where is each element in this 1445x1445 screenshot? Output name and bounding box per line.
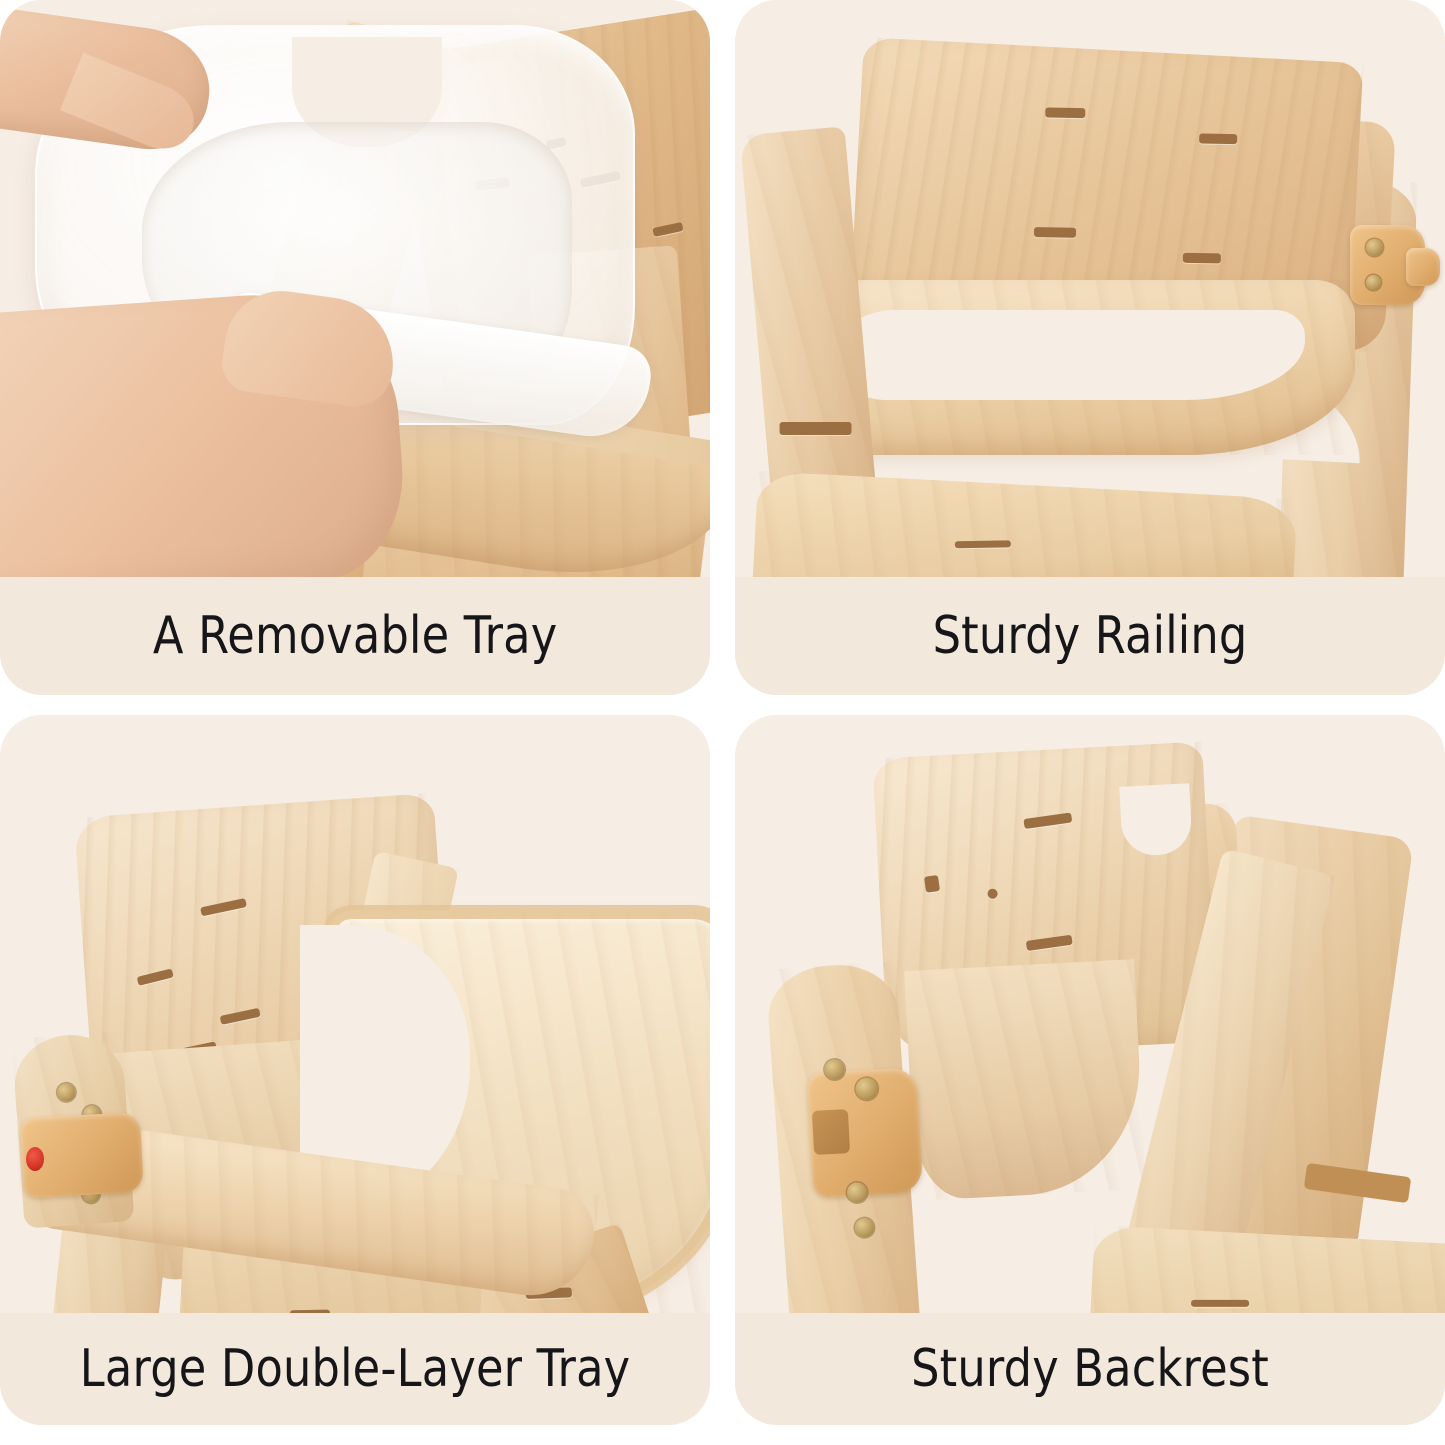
caption-label: Sturdy Railing [933,606,1248,666]
caption-bar-sturdy-railing: Sturdy Railing [735,577,1445,695]
photo-sturdy-railing [735,0,1445,577]
caption-label: Large Double-Layer Tray [80,1339,630,1399]
photo-double-layer-tray [0,715,710,1313]
caption-bar-sturdy-backrest: Sturdy Backrest [735,1313,1445,1425]
feature-grid: A Removable Tray [0,0,1445,1445]
latch-groove [812,1109,850,1155]
latch-nub [1406,248,1440,286]
photo-removable-tray [0,0,710,577]
caption-bar-removable-tray: A Removable Tray [0,577,710,695]
feature-card-sturdy-railing[interactable]: Sturdy Railing [735,0,1445,695]
caption-label: Sturdy Backrest [911,1339,1269,1399]
photo-sturdy-backrest [735,715,1445,1313]
caption-label: A Removable Tray [153,606,557,666]
feature-card-double-layer-tray[interactable]: Large Double-Layer Tray [0,715,710,1425]
feature-card-removable-tray[interactable]: A Removable Tray [0,0,710,695]
railing-opening [835,310,1305,400]
feature-card-sturdy-backrest[interactable]: Sturdy Backrest [735,715,1445,1425]
latch-indicator-dot [26,1147,44,1171]
caption-bar-double-layer-tray: Large Double-Layer Tray [0,1313,710,1425]
